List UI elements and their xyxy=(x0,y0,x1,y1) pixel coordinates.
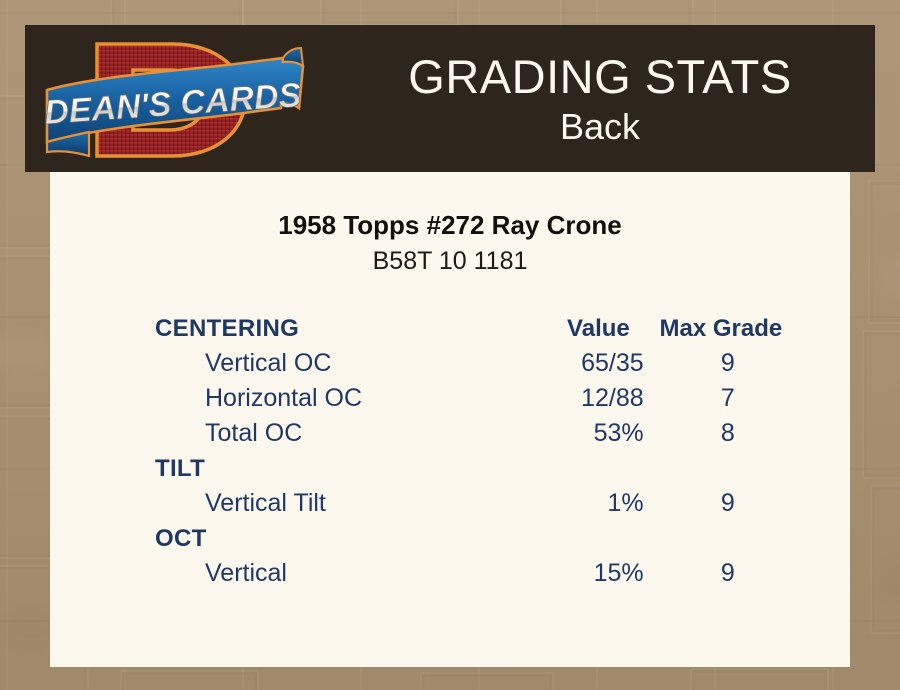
row-value: 12/88 xyxy=(515,384,643,413)
table-row: Vertical 15% 9 xyxy=(155,559,812,594)
row-value: 15% xyxy=(515,559,643,588)
page-subtitle: Back xyxy=(560,106,640,148)
grading-stats-page: DEAN'S CARDS GRADING STATS Back 1958 Top… xyxy=(0,0,900,690)
background-card xyxy=(870,485,900,634)
row-value: 65/35 xyxy=(515,349,643,378)
table-row: Vertical Tilt 1% 9 xyxy=(155,489,812,524)
row-label: Vertical xyxy=(155,559,515,588)
row-grade: 9 xyxy=(644,489,812,518)
header-band: DEAN'S CARDS GRADING STATS Back xyxy=(25,25,875,172)
row-grade: 8 xyxy=(644,419,812,448)
page-title: GRADING STATS xyxy=(408,50,791,104)
row-label: Vertical OC xyxy=(155,349,515,378)
row-value: 53% xyxy=(515,419,643,448)
background-card xyxy=(120,670,259,690)
row-grade: 9 xyxy=(644,349,812,378)
background-card xyxy=(690,668,829,690)
card-heading: 1958 Topps #272 Ray Crone xyxy=(50,172,850,240)
background-card xyxy=(868,180,900,324)
content-panel: 1958 Topps #272 Ray Crone B58T 10 1181 C… xyxy=(50,172,850,667)
table-row: Vertical OC 65/35 9 xyxy=(155,349,812,384)
section-header-oct: OCT xyxy=(155,524,491,553)
background-card xyxy=(560,0,694,27)
background-card xyxy=(862,330,900,479)
table-row: Total OC 53% 8 xyxy=(155,419,812,454)
column-header-value: Value xyxy=(491,314,630,343)
section-header-tilt: TILT xyxy=(155,454,491,483)
row-grade: 9 xyxy=(644,559,812,588)
section-header-row: OCT xyxy=(155,524,812,559)
section-header-centering: CENTERING xyxy=(155,314,491,343)
background-card xyxy=(420,672,554,690)
background-card xyxy=(320,0,459,26)
section-header-row: TILT xyxy=(155,454,812,489)
grading-stats-table: CENTERING Value Max Grade Vertical OC 65… xyxy=(50,314,850,594)
background-blob xyxy=(874,560,900,602)
card-subheading: B58T 10 1181 xyxy=(50,240,850,276)
row-label: Vertical Tilt xyxy=(155,489,515,518)
row-value: 1% xyxy=(515,489,643,518)
deans-cards-logo[interactable]: DEAN'S CARDS xyxy=(45,30,315,170)
row-label: Horizontal OC xyxy=(155,384,515,413)
background-blob xyxy=(876,255,900,299)
column-header-max-grade: Max Grade xyxy=(630,314,812,343)
row-label: Total OC xyxy=(155,419,515,448)
table-header-row: CENTERING Value Max Grade xyxy=(155,314,812,349)
row-grade: 7 xyxy=(644,384,812,413)
table-row: Horizontal OC 12/88 7 xyxy=(155,384,812,419)
header-title-block: GRADING STATS Back xyxy=(325,25,875,172)
